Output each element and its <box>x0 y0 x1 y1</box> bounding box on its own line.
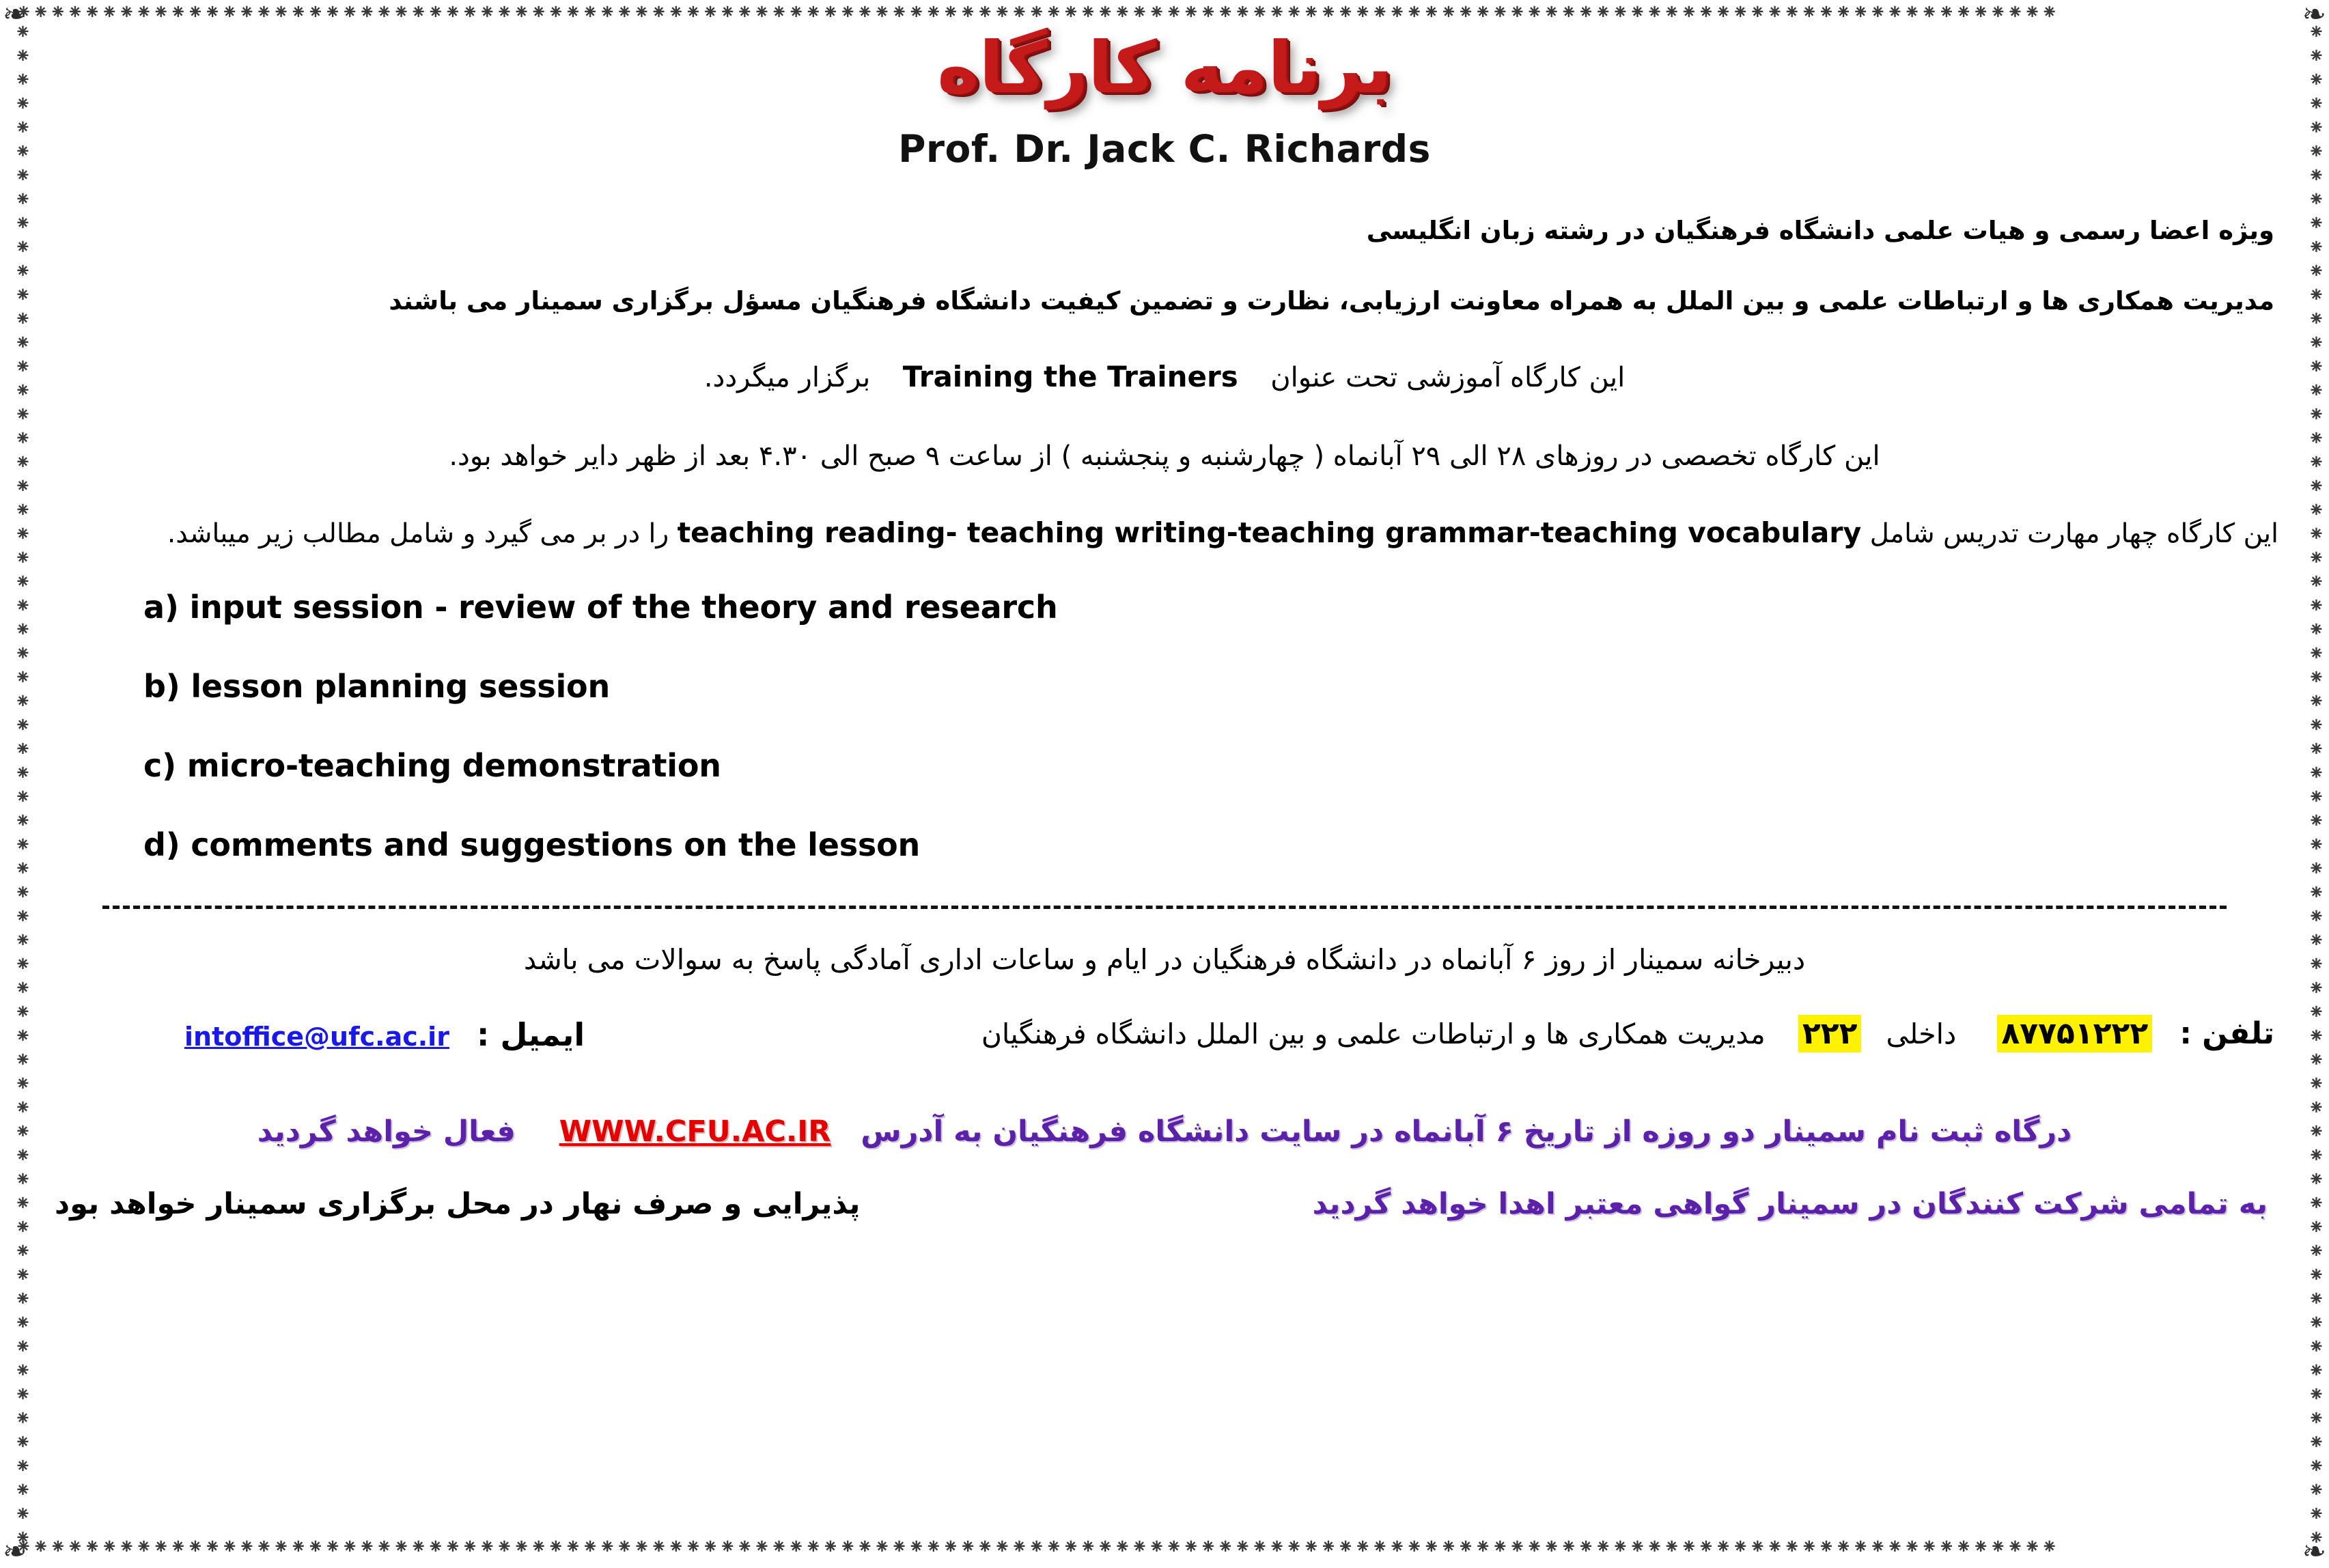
skills-english: teaching reading- teaching writing-teach… <box>678 516 1862 549</box>
catering-line: پذیرایی و صرف نهار در محل برگزاری سمینار… <box>55 1187 860 1221</box>
registration-url-link[interactable]: WWW.CFU.AC.IR <box>559 1115 831 1149</box>
frame-left-edge: ⁕⁕⁕⁕⁕⁕⁕⁕⁕⁕⁕⁕⁕⁕⁕⁕⁕⁕⁕⁕⁕⁕⁕⁕⁕⁕⁕⁕⁕⁕⁕⁕⁕⁕⁕⁕⁕⁕⁕⁕… <box>3 20 33 1550</box>
email-link[interactable]: intoffice@ufc.ac.ir <box>184 1022 449 1052</box>
certificate-line: به تمامی شرکت کنندگان در سمینار گواهی مع… <box>1312 1187 2268 1221</box>
contact-row: تلفن : ۸۷۷۵۱۲۲۲ داخلی ۲۲۲ مدیریت همکاری … <box>41 1016 2288 1078</box>
speaker-name: Prof. Dr. Jack C. Richards <box>41 127 2288 171</box>
registration-suffix: فعال خواهد گردید <box>257 1115 516 1149</box>
phone-number: ۸۷۷۵۱۲۲۲ <box>1997 1015 2152 1052</box>
email-block: ایمیل : intoffice@ufc.ac.ir <box>184 1016 585 1053</box>
workshop-title-suffix: برگزار میگردد. <box>704 362 870 393</box>
department-name: مدیریت همکاری ها و ارتباطات علمی و بین ا… <box>981 1018 1766 1050</box>
skills-line: این کارگاه چهار مهارت تدریس شامل teachin… <box>51 514 2278 553</box>
announcement-page: برنامه کارگاه Prof. Dr. Jack C. Richards… <box>41 15 2288 1552</box>
workshop-title-prefix: این کارگاه آموزشی تحت عنوان <box>1270 362 1625 393</box>
session-bullet-list: a) input session - review of the theory … <box>143 589 2288 863</box>
workshop-title-line: این کارگاه آموزشی تحت عنوان Training the… <box>55 357 2274 397</box>
secretariat-line: دبیرخانه سمینار از روز ۶ آبانماه در دانش… <box>68 940 2261 979</box>
title-container: برنامه کارگاه <box>41 27 2288 109</box>
page-title: برنامه کارگاه <box>937 27 1392 109</box>
list-item: d) comments and suggestions on the lesso… <box>143 826 2288 863</box>
section-divider <box>102 906 2227 909</box>
phone-label: تلفن : <box>2179 1016 2274 1051</box>
frame-corner-top-left-icon: ❧ <box>3 0 27 29</box>
extension-label: داخلی <box>1886 1018 1957 1050</box>
registration-line: درگاه ثبت نام سمینار دو روزه از تاریخ ۶ … <box>41 1115 2288 1149</box>
workshop-title-english: Training the Trainers <box>903 360 1238 393</box>
list-item: a) input session - review of the theory … <box>143 589 2288 626</box>
skills-suffix: را در بر می گیرد و شامل مطالب زیر میباشد… <box>167 518 669 549</box>
skills-prefix: این کارگاه چهار مهارت تدریس شامل <box>1870 518 2278 549</box>
schedule-line: این کارگاه تخصصی در روزهای ۲۸ الی ۲۹ آبا… <box>55 437 2274 475</box>
footer-row: به تمامی شرکت کنندگان در سمینار گواهی مع… <box>41 1187 2288 1235</box>
list-item: b) lesson planning session <box>143 668 2288 705</box>
organizer-line: مدیریت همکاری ها و ارتباطات علمی و بین ا… <box>55 283 2274 319</box>
audience-line: ویژه اعضا رسمی و هیات علمی دانشگاه فرهنگ… <box>55 213 2274 249</box>
frame-corner-top-right-icon: ❧ <box>2302 0 2326 29</box>
phone-block: تلفن : ۸۷۷۵۱۲۲۲ داخلی ۲۲۲ مدیریت همکاری … <box>981 1016 2274 1051</box>
list-item: c) micro-teaching demonstration <box>143 747 2288 784</box>
extension-number: ۲۲۲ <box>1798 1015 1862 1052</box>
frame-corner-bottom-right-icon: ❧ <box>2302 1537 2326 1566</box>
email-label: ایمیل : <box>477 1016 585 1053</box>
registration-prefix: درگاه ثبت نام سمینار دو روزه از تاریخ ۶ … <box>861 1115 2072 1149</box>
frame-corner-bottom-left-icon: ❧ <box>3 1537 27 1566</box>
frame-right-edge: ⁕⁕⁕⁕⁕⁕⁕⁕⁕⁕⁕⁕⁕⁕⁕⁕⁕⁕⁕⁕⁕⁕⁕⁕⁕⁕⁕⁕⁕⁕⁕⁕⁕⁕⁕⁕⁕⁕⁕⁕… <box>2296 20 2326 1550</box>
